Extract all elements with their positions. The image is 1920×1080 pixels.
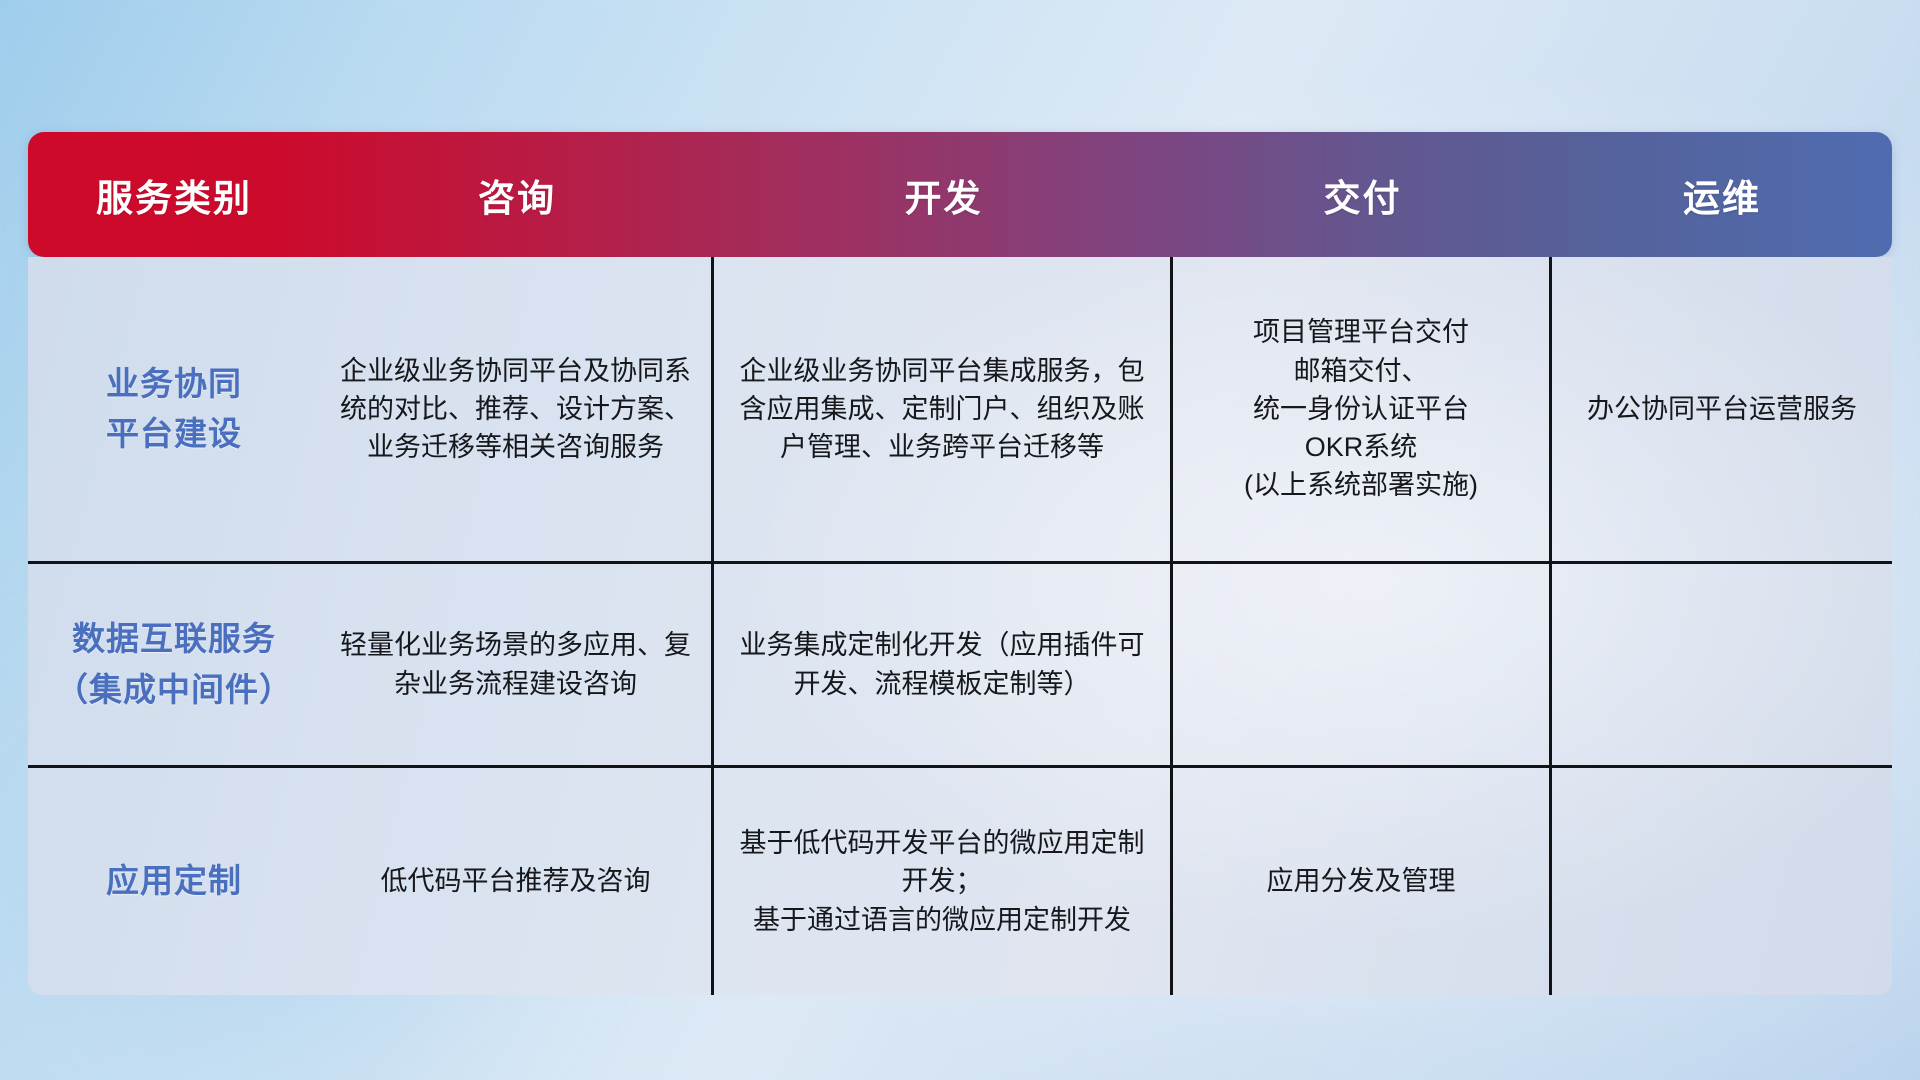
table-body: 业务协同平台建设 企业级业务协同平台及协同系统的对比、推荐、设计方案、业务迁移等…	[28, 257, 1892, 995]
row-category-label: 业务协同平台建设	[28, 257, 320, 561]
row-category-label: 应用定制	[28, 768, 320, 995]
cell-delivery: 项目管理平台交付邮箱交付、统一身份认证平台OKR系统(以上系统部署实施)	[1173, 257, 1552, 561]
column-header-category: 服务类别	[28, 132, 320, 257]
table-row: 应用定制 低代码平台推荐及咨询 基于低代码开发平台的微应用定制开发；基于通过语言…	[28, 765, 1892, 995]
column-header-development: 开发	[714, 132, 1173, 257]
cell-consulting: 低代码平台推荐及咨询	[320, 768, 714, 995]
service-category-table: 服务类别 咨询 开发 交付 运维 业务协同平台建设 企业级业务协同平台及协同系统…	[28, 132, 1892, 995]
cell-operations: 办公协同平台运营服务	[1552, 257, 1892, 561]
cell-consulting: 企业级业务协同平台及协同系统的对比、推荐、设计方案、业务迁移等相关咨询服务	[320, 257, 714, 561]
cell-delivery: 应用分发及管理	[1173, 768, 1552, 995]
table-row: 业务协同平台建设 企业级业务协同平台及协同系统的对比、推荐、设计方案、业务迁移等…	[28, 257, 1892, 561]
cell-development: 企业级业务协同平台集成服务，包含应用集成、定制门户、组织及账户管理、业务跨平台迁…	[714, 257, 1173, 561]
column-header-operations: 运维	[1552, 132, 1892, 257]
cell-delivery	[1173, 564, 1552, 765]
cell-development: 业务集成定制化开发（应用插件可开发、流程模板定制等）	[714, 564, 1173, 765]
table-row: 数据互联服务（集成中间件） 轻量化业务场景的多应用、复杂业务流程建设咨询 业务集…	[28, 561, 1892, 765]
table-header-row: 服务类别 咨询 开发 交付 运维	[28, 132, 1892, 257]
row-category-label: 数据互联服务（集成中间件）	[28, 564, 320, 765]
column-header-consulting: 咨询	[320, 132, 714, 257]
cell-operations	[1552, 768, 1892, 995]
column-header-delivery: 交付	[1173, 132, 1552, 257]
cell-operations	[1552, 564, 1892, 765]
cell-consulting: 轻量化业务场景的多应用、复杂业务流程建设咨询	[320, 564, 714, 765]
cell-development: 基于低代码开发平台的微应用定制开发；基于通过语言的微应用定制开发	[714, 768, 1173, 995]
